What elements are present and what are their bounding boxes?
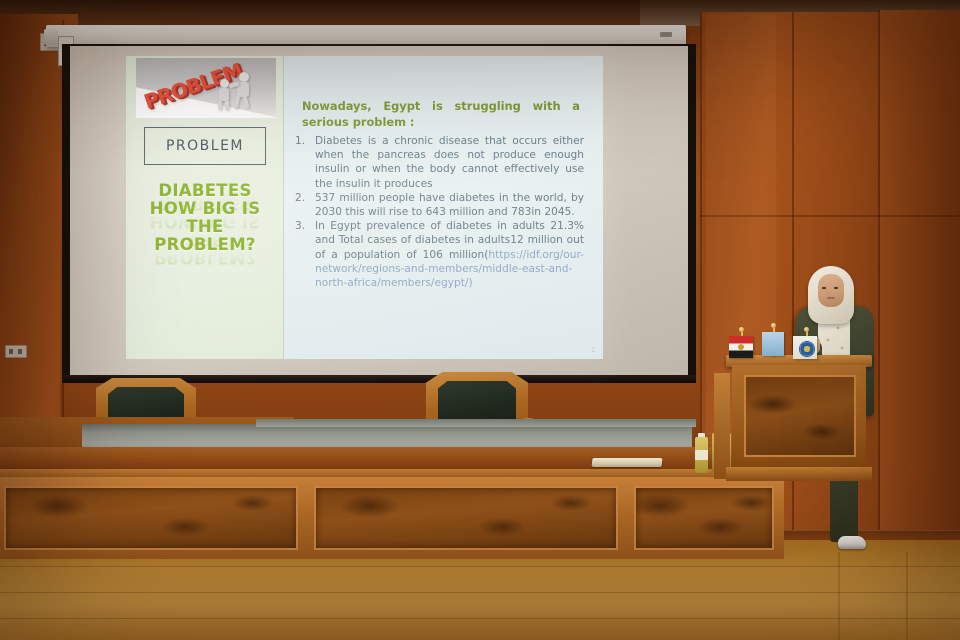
- list-item-text: 537 million people have diabetes in the …: [315, 191, 584, 219]
- table-burl-panel: [4, 486, 298, 550]
- presenter-face: [818, 274, 844, 307]
- egypt-flag: [729, 336, 753, 358]
- slide-bullet-list: 1. Diabetes is a chronic disease that oc…: [292, 134, 584, 290]
- flag-finial: [739, 327, 744, 332]
- slide-heading: Nowadays, Egypt is struggling with a ser…: [302, 99, 580, 130]
- conference-room-photo: PROBLEM PROBLEM DIABETES DIABETES: [0, 0, 960, 640]
- slide-headline-block: DIABETES DIABETES HOW BIG IS HOW BIG IS …: [126, 181, 284, 267]
- screen-housing-end: [44, 29, 58, 45]
- egypt-flag-eagle: [738, 344, 744, 350]
- presenter-shoe: [838, 536, 866, 549]
- juice-bottle[interactable]: [694, 433, 709, 473]
- slide-number: 1: [591, 347, 595, 354]
- presenter-eye: [822, 287, 826, 289]
- slide-column-divider: [283, 56, 284, 359]
- figure-head: [220, 79, 229, 88]
- table-top: [0, 447, 784, 471]
- flag-emblem-icon: [799, 341, 815, 357]
- list-item: 2. 537 million people have diabetes in t…: [292, 191, 584, 219]
- table-burl-panel: [634, 486, 774, 550]
- list-item-number: 3.: [292, 219, 315, 290]
- presenter-mouth: [827, 297, 835, 299]
- problem-hero-graphic: PROBLEM: [136, 58, 276, 118]
- table-back-riser-upper: [256, 419, 696, 427]
- list-item-text-with-link: In Egypt prevalence of diabetes in adult…: [315, 219, 584, 290]
- flag-finial: [804, 327, 809, 332]
- list-item-number: 2.: [292, 191, 315, 219]
- floor-plank: [0, 566, 960, 567]
- podium-side: [714, 373, 730, 479]
- conference-table[interactable]: [0, 447, 784, 557]
- figure-leg: [225, 100, 229, 110]
- slide-right-panel: Nowadays, Egypt is struggling with a ser…: [284, 56, 603, 359]
- floor-plank: [0, 618, 960, 619]
- list-item: 3. In Egypt prevalence of diabetes in ad…: [292, 219, 584, 290]
- figure-leg: [218, 100, 222, 110]
- list-item: 1. Diabetes is a chronic disease that oc…: [292, 134, 584, 191]
- wall-seam: [878, 10, 880, 555]
- papers-on-table[interactable]: [592, 458, 663, 467]
- headline-line-wrap: PROBLEM? PROBLEM?: [126, 235, 284, 267]
- floor-plank: [0, 592, 960, 593]
- figure-body: [219, 88, 229, 101]
- speaker-podium[interactable]: [726, 355, 872, 487]
- figure-head: [239, 72, 249, 82]
- outlet-slot: [18, 349, 22, 354]
- wall-outlet-plate-lower[interactable]: [5, 345, 27, 358]
- podium-burl-panel: [744, 375, 856, 457]
- slide-left-panel: PROBLEM PROBLEM DIABETES DIABETES: [126, 56, 284, 359]
- floor-plank: [906, 552, 908, 640]
- screen-housing-logo: [660, 32, 672, 37]
- projected-slide: PROBLEM PROBLEM DIABETES DIABETES: [126, 56, 603, 359]
- table-front-panel: [0, 477, 784, 559]
- table-burl-panel: [314, 486, 618, 550]
- problem-label-box: PROBLEM: [144, 127, 266, 165]
- wall-right-far: [880, 10, 960, 558]
- emblem-flag: [793, 336, 817, 359]
- list-item-number: 1.: [292, 134, 315, 191]
- light-blue-flag: [762, 332, 784, 356]
- floor-plank: [838, 552, 840, 640]
- flag-finial: [771, 323, 776, 328]
- presenter-eye: [834, 287, 838, 289]
- headline-reflection-4: PROBLEM?: [126, 248, 284, 267]
- outlet-slot: [9, 349, 13, 354]
- bottle-label: [695, 450, 708, 460]
- problem-label-text: PROBLEM: [166, 138, 244, 154]
- list-item-text: Diabetes is a chronic disease that occur…: [315, 134, 584, 191]
- table-back-riser: [82, 424, 692, 448]
- podium-base: [726, 467, 872, 481]
